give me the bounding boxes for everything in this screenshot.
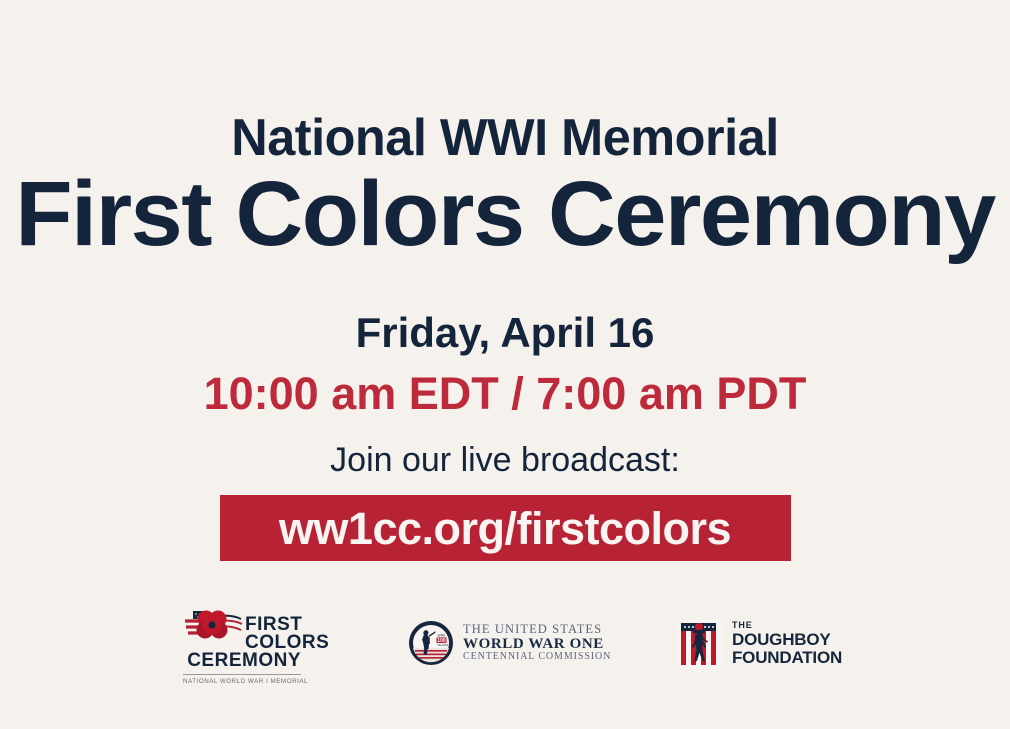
broadcast-url-text: ww1cc.org/firstcolors — [279, 506, 731, 551]
logo-doughboy-wordmark: THE DOUGHBOY FOUNDATION — [732, 621, 842, 666]
poppy-flag-icon — [183, 604, 243, 650]
logo-ww1-centennial-commission: WWI 100 YEARS THE UNITED STATES WORLD WA… — [408, 620, 611, 666]
svg-text:YEARS: YEARS — [437, 643, 449, 647]
logo-doughboy-line2: DOUGHBOY — [732, 631, 842, 649]
logo-first-colors-line2: COLORS — [245, 634, 329, 652]
logo-divider — [183, 674, 301, 675]
broadcast-label: Join our live broadcast: — [330, 443, 680, 477]
logo-first-colors-line3: CEREMONY — [183, 651, 301, 670]
logo-ww1-line2: WORLD WAR ONE — [463, 636, 611, 652]
logo-first-colors-ceremony: FIRST COLORS CEREMONY NATIONAL WORLD WAR… — [183, 604, 303, 685]
logo-row: FIRST COLORS CEREMONY NATIONAL WORLD WAR… — [0, 596, 1010, 706]
page-title-main: First Colors Ceremony — [0, 168, 1010, 260]
event-date: Friday, April 16 — [356, 312, 655, 354]
event-time: 10:00 am EDT / 7:00 am PDT — [204, 371, 807, 416]
headline-block: National WWI Memorial First Colors Cerem… — [0, 112, 1010, 260]
page-title-top: National WWI Memorial — [15, 112, 995, 164]
broadcast-url-banner[interactable]: ww1cc.org/firstcolors — [220, 495, 791, 561]
logo-ww1-line3: CENTENNIAL COMMISSION — [463, 652, 611, 663]
event-poster: National WWI Memorial First Colors Cerem… — [0, 0, 1010, 729]
logo-ww1-line1: THE UNITED STATES — [463, 623, 611, 637]
logo-doughboy-foundation: THE DOUGHBOY FOUNDATION — [678, 620, 842, 668]
centennial-seal-icon: WWI 100 YEARS — [408, 620, 454, 666]
logo-first-colors-words: FIRST COLORS — [245, 604, 329, 653]
logo-first-colors-tagline: NATIONAL WORLD WAR I MEMORIAL — [183, 678, 301, 685]
logo-doughboy-line3: FOUNDATION — [732, 649, 842, 667]
logo-ww1-wordmark: THE UNITED STATES WORLD WAR ONE CENTENNI… — [463, 623, 611, 663]
doughboy-flag-icon — [678, 620, 722, 668]
